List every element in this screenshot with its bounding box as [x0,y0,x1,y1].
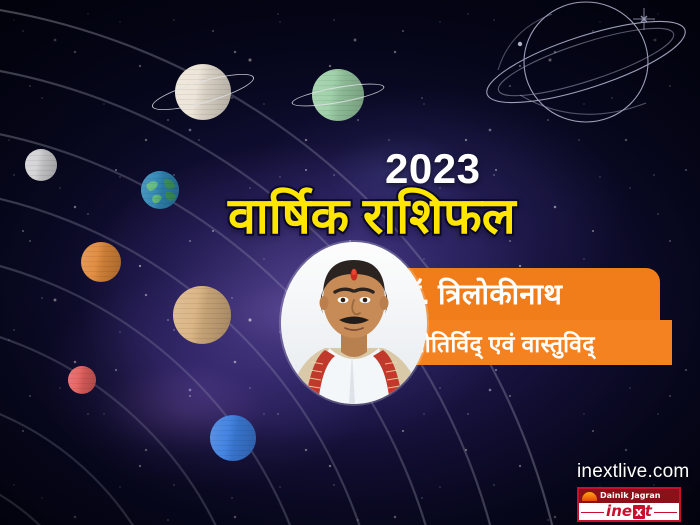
planet-mercury [25,149,57,181]
astrologer-portrait [281,242,427,404]
headline-title: वार्षिक राशिफल [228,186,516,246]
dainik-jagran-inext-logo: Dainik Jagran i ne x t [577,487,681,522]
planet-earth-shading [141,171,179,209]
planet-saturn [175,64,231,120]
planet-mars-shading [81,242,121,282]
planet-neptune [210,415,256,461]
planet-mars [81,242,121,282]
planet-pluto [68,366,96,394]
poster-canvas: डॉ. त्रिलोकीनाथ ज्योतिर्विद् एवं वास्तुव… [0,0,700,525]
planet-earth [141,171,179,209]
astrologer-title: ज्योतिर्विद् एवं वास्तुविद् [398,326,595,362]
logo-letter-t: t [645,504,652,519]
logo-letter-x: x [633,505,645,519]
planet-saturn-shading [175,64,231,120]
planet-uranus [312,69,364,121]
planet-venus [173,286,231,344]
planet-pluto-shading [68,366,96,394]
planet-neptune-shading [210,415,256,461]
logo-letters-ne: ne [611,504,632,519]
site-watermark: inextlive.com [577,461,689,483]
planet-mercury-shading [25,149,57,181]
logo-top-bar: Dainik Jagran [579,489,679,503]
logo-bottom-bar: i ne x t [579,503,679,520]
sunrise-icon [582,492,597,501]
logo-wordmark: i ne x t [604,504,654,519]
logo-brand-text: Dainik Jagran [600,492,660,500]
planet-uranus-shading [312,69,364,121]
planet-venus-shading [173,286,231,344]
